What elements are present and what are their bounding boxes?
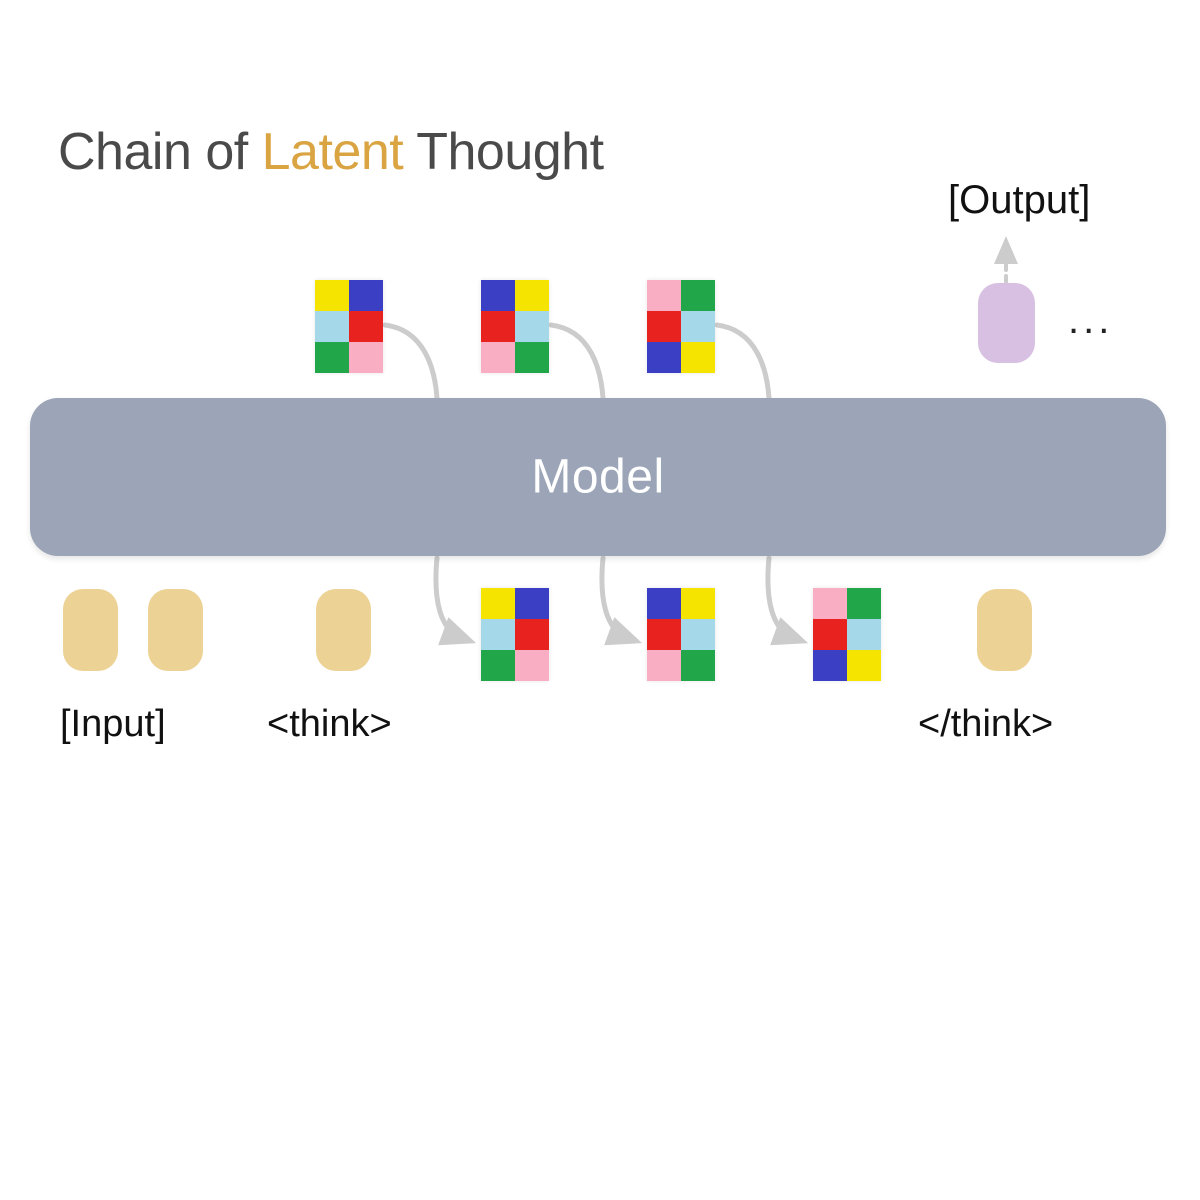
model-label: Model	[30, 450, 1166, 505]
grid-cell	[315, 342, 349, 373]
ellipsis-label: ...	[1068, 298, 1113, 343]
grid-cell	[681, 650, 715, 681]
input-token-2	[148, 589, 203, 671]
grid-cell	[515, 619, 549, 650]
grid-cell	[647, 280, 681, 311]
model-block[interactable]: Model	[30, 398, 1166, 556]
grid-cell	[647, 342, 681, 373]
grid-cell	[481, 342, 515, 373]
curve-thought-1-to-model	[385, 325, 437, 398]
grid-cell	[647, 650, 681, 681]
grid-cell	[681, 280, 715, 311]
title-accent-latent: Latent	[262, 123, 404, 181]
grid-cell	[647, 588, 681, 619]
think-close-label: </think>	[918, 703, 1053, 746]
input-label: [Input]	[60, 703, 166, 746]
grid-cell	[481, 619, 515, 650]
grid-cell	[681, 619, 715, 650]
grid-cell	[847, 650, 881, 681]
curve-thought-2-to-model	[551, 325, 603, 398]
grid-cell	[813, 588, 847, 619]
grid-cell	[515, 280, 549, 311]
grid-cell	[481, 588, 515, 619]
think-close-token	[977, 589, 1032, 671]
grid-cell	[813, 619, 847, 650]
grid-cell	[515, 588, 549, 619]
page-title: Chain of Latent Thought	[58, 122, 604, 182]
grid-cell	[481, 311, 515, 342]
latent-grid-top-1	[315, 280, 383, 373]
input-token-1	[63, 589, 118, 671]
latent-grid-bottom-1	[481, 588, 549, 681]
grid-cell	[647, 311, 681, 342]
latent-grid-top-2	[481, 280, 549, 373]
grid-cell	[681, 342, 715, 373]
title-part-2: Thought	[403, 123, 603, 181]
grid-cell	[515, 342, 549, 373]
grid-cell	[349, 280, 383, 311]
grid-cell	[515, 311, 549, 342]
latent-grid-top-3	[647, 280, 715, 373]
grid-cell	[847, 588, 881, 619]
grid-cell	[681, 311, 715, 342]
grid-cell	[681, 588, 715, 619]
diagram-canvas: Chain of Latent Thought [Output] ...	[0, 0, 1200, 1200]
grid-cell	[647, 619, 681, 650]
latent-grid-bottom-3	[813, 588, 881, 681]
arrow-model-to-latent-1	[436, 558, 462, 638]
grid-cell	[813, 650, 847, 681]
grid-cell	[481, 280, 515, 311]
think-open-token	[316, 589, 371, 671]
arrow-model-to-latent-3	[768, 558, 794, 638]
grid-cell	[315, 311, 349, 342]
grid-cell	[847, 619, 881, 650]
think-open-label: <think>	[267, 703, 392, 746]
curve-thought-3-to-model	[717, 325, 769, 398]
grid-cell	[481, 650, 515, 681]
grid-cell	[315, 280, 349, 311]
title-part-1: Chain of	[58, 123, 262, 181]
grid-cell	[515, 650, 549, 681]
grid-cell	[349, 342, 383, 373]
grid-cell	[349, 311, 383, 342]
output-label: [Output]	[948, 178, 1090, 223]
arrow-model-to-latent-2	[602, 558, 628, 638]
output-token	[978, 283, 1035, 363]
latent-grid-bottom-2	[647, 588, 715, 681]
